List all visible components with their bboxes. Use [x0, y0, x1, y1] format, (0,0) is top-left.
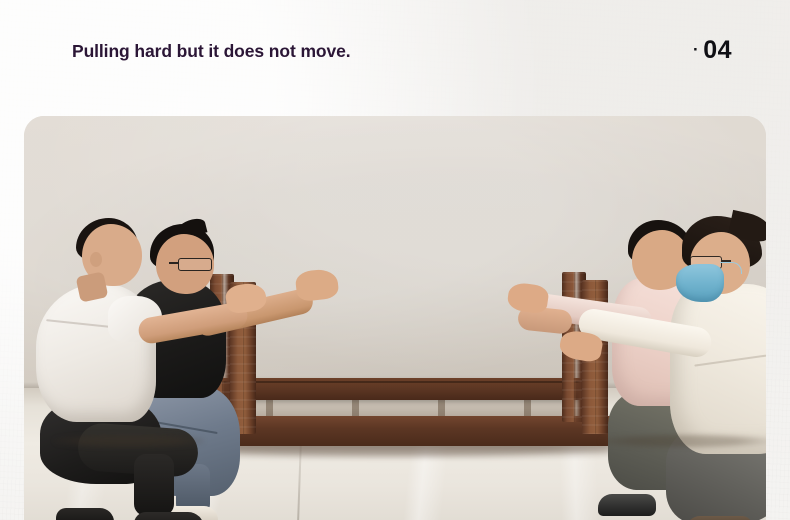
face-mask-strap	[720, 262, 742, 274]
photo-figure	[24, 116, 766, 520]
shadow-right-group	[600, 434, 766, 448]
shadow-left-group	[54, 434, 204, 448]
person-left-outer-shin	[134, 454, 174, 516]
person-left-outer	[30, 212, 220, 512]
person-right-outer-shirt	[670, 284, 766, 454]
person-left-outer-ear	[90, 252, 102, 267]
person-right-outer	[620, 204, 766, 520]
page-number-value: 04	[703, 36, 732, 64]
bullet-icon: ·	[693, 30, 699, 70]
face-mask-icon	[676, 264, 724, 302]
page-number: ·04	[693, 30, 732, 70]
person-left-outer-boot-front	[134, 512, 204, 520]
person-right-outer-shoe	[686, 516, 752, 520]
page-header: Pulling hard but it does not move. ·04	[0, 36, 790, 70]
page-title: Pulling hard but it does not move.	[72, 36, 351, 66]
person-left-outer-boot-rear	[56, 508, 114, 520]
